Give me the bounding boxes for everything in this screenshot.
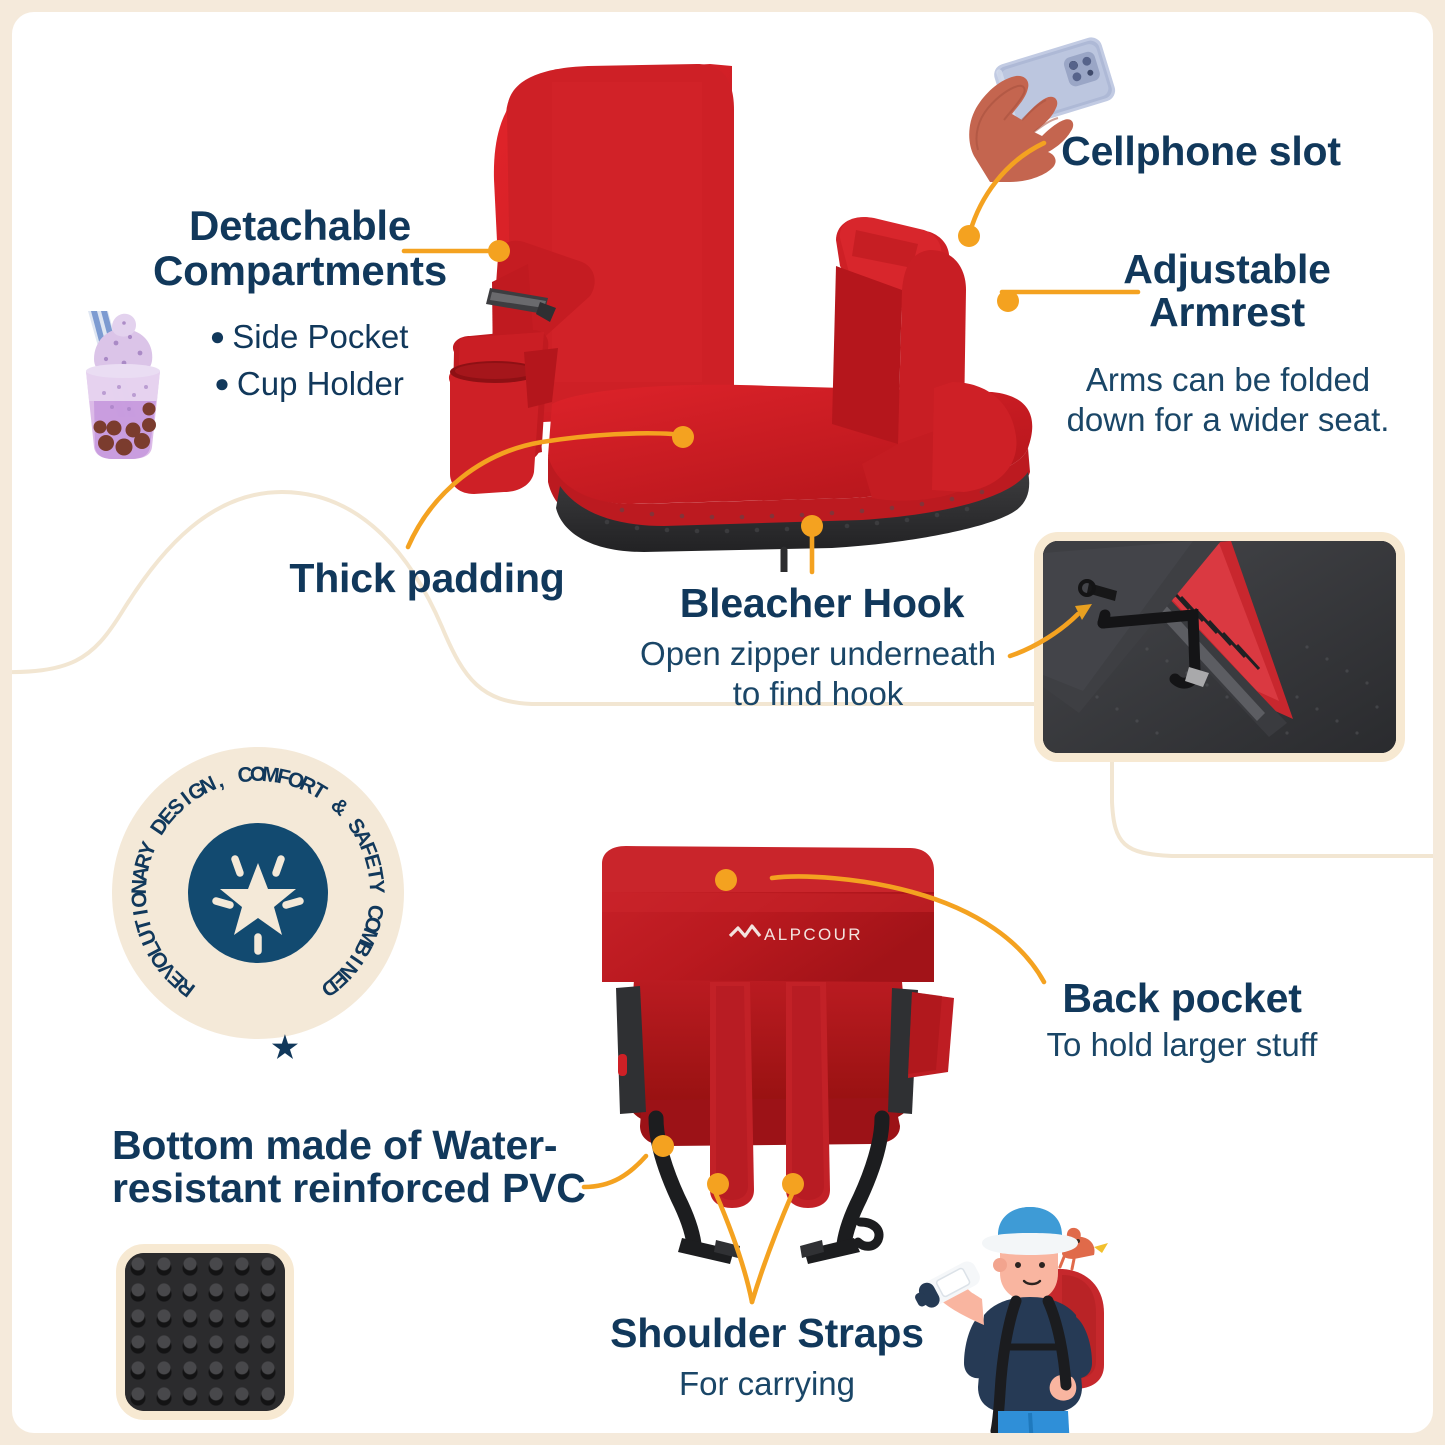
quality-badge: REVOLUTIONARY DESIGN, COMFORT & SAFETY C… — [112, 747, 404, 1039]
pvc-title-line2: resistant reinforced PVC — [112, 1167, 602, 1210]
bullet-dot: ● — [210, 321, 226, 351]
bullet-dot: ● — [214, 368, 230, 398]
bleacher-hook-title: Bleacher Hook — [652, 582, 992, 625]
back-pocket-subtext: To hold larger stuff — [1007, 1025, 1357, 1065]
badge-core — [188, 823, 328, 963]
detachable-title-line2: Compartments — [104, 249, 496, 294]
bullet-cup-holder: ●Cup Holder — [122, 361, 496, 408]
armrest-title: Adjustable Armrest — [1062, 248, 1392, 335]
detachable-bullets: ●Side Pocket ●Cup Holder — [122, 314, 496, 408]
bleacher-hook-closeup-photo — [1034, 532, 1405, 762]
pvc-title-line1: Bottom made of Water- — [112, 1124, 602, 1167]
pvc-title: Bottom made of Water- resistant reinforc… — [112, 1124, 602, 1211]
cellphone-slot-title: Cellphone slot — [1036, 130, 1366, 173]
armrest-subtext: Arms can be folded down for a wider seat… — [1054, 360, 1402, 439]
back-pocket-title: Back pocket — [1032, 977, 1332, 1020]
pvc-texture-swatch-photo — [116, 1244, 294, 1420]
star-burst-icon — [188, 823, 328, 963]
armrest-title-line1: Adjustable — [1062, 248, 1392, 291]
detachable-title-line1: Detachable — [104, 204, 496, 249]
detachable-title: Detachable Compartments — [104, 204, 496, 293]
shoulder-straps-title: Shoulder Straps — [567, 1312, 967, 1355]
bleacher-hook-subtext: Open zipper underneath to find hook — [608, 634, 1028, 713]
bullet-side-pocket: ●Side Pocket — [122, 314, 496, 361]
badge-char — [364, 896, 388, 903]
thick-padding-title: Thick padding — [262, 557, 592, 600]
badge-star-icon: ★ — [271, 1031, 298, 1066]
shoulder-straps-subtext: For carrying — [567, 1364, 967, 1404]
infographic-canvas: Detachable Compartments ●Side Pocket ●Cu… — [12, 12, 1433, 1433]
armrest-title-line2: Armrest — [1062, 291, 1392, 334]
badge-char: Y — [363, 879, 388, 894]
svg-text:ALPCOUR: ALPCOUR — [764, 925, 863, 944]
